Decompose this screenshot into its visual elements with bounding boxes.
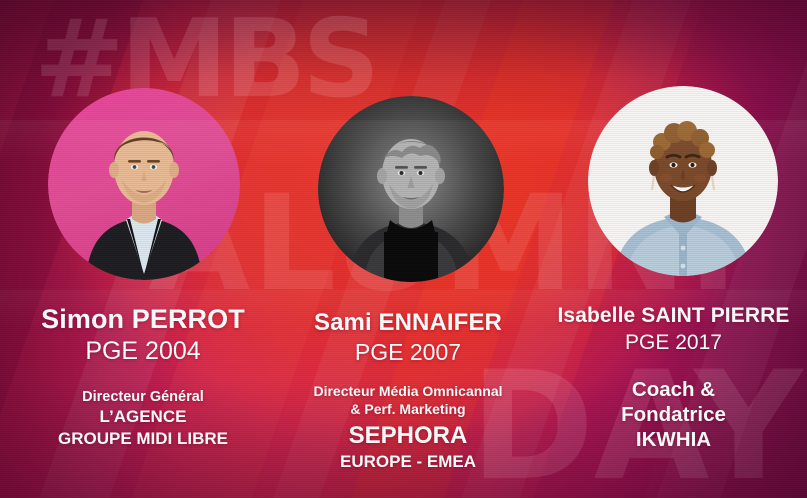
speaker-details: Directeur Général L’AGENCE GROUPE MIDI L… xyxy=(0,388,286,450)
speaker-org-2: Fondatrice xyxy=(540,402,807,427)
portrait-sami-ennaifer xyxy=(318,96,504,282)
speaker-name: Simon PERROT xyxy=(0,305,286,334)
speaker-name: Isabelle SAINT PIERRE xyxy=(540,305,807,328)
portrait-simon-perrot xyxy=(48,88,240,280)
speaker-details: Coach & Fondatrice IKWHIA xyxy=(540,377,807,452)
portrait-isabelle-saint-pierre xyxy=(588,86,778,276)
speaker-role-2: & Perf. Marketing xyxy=(268,401,548,419)
slide-root: #MBS ALUMNI DAY xyxy=(0,0,807,498)
speaker-org-region: EUROPE - EMEA xyxy=(268,452,548,472)
portrait-sami-ennaifer-image xyxy=(318,96,504,282)
speaker-program: PGE 2017 xyxy=(540,331,807,355)
speaker-org: L’AGENCE xyxy=(0,407,286,428)
portrait-simon-perrot-image xyxy=(48,88,240,280)
speaker-org-3: IKWHIA xyxy=(540,427,807,452)
speaker-name: Sami ENNAIFER xyxy=(268,310,548,336)
speaker-role: Directeur Média Omnicannal xyxy=(268,383,548,401)
speaker-org-2: GROUPE MIDI LIBRE xyxy=(0,429,286,450)
speaker-card-sami-ennaifer: Sami ENNAIFER PGE 2007 Directeur Média O… xyxy=(268,310,548,472)
speaker-program: PGE 2007 xyxy=(268,339,548,365)
speaker-program: PGE 2004 xyxy=(0,337,286,366)
speaker-org: SEPHORA xyxy=(268,421,548,450)
speaker-role: Directeur Général xyxy=(0,388,286,406)
speaker-details: Directeur Média Omnicannal & Perf. Marke… xyxy=(268,383,548,472)
speaker-card-isabelle-saint-pierre: Isabelle SAINT PIERRE PGE 2017 Coach & F… xyxy=(540,305,807,452)
portrait-isabelle-saint-pierre-image xyxy=(588,86,778,276)
speaker-org: Coach & xyxy=(540,377,807,402)
speaker-card-simon-perrot: Simon PERROT PGE 2004 Directeur Général … xyxy=(0,305,286,450)
